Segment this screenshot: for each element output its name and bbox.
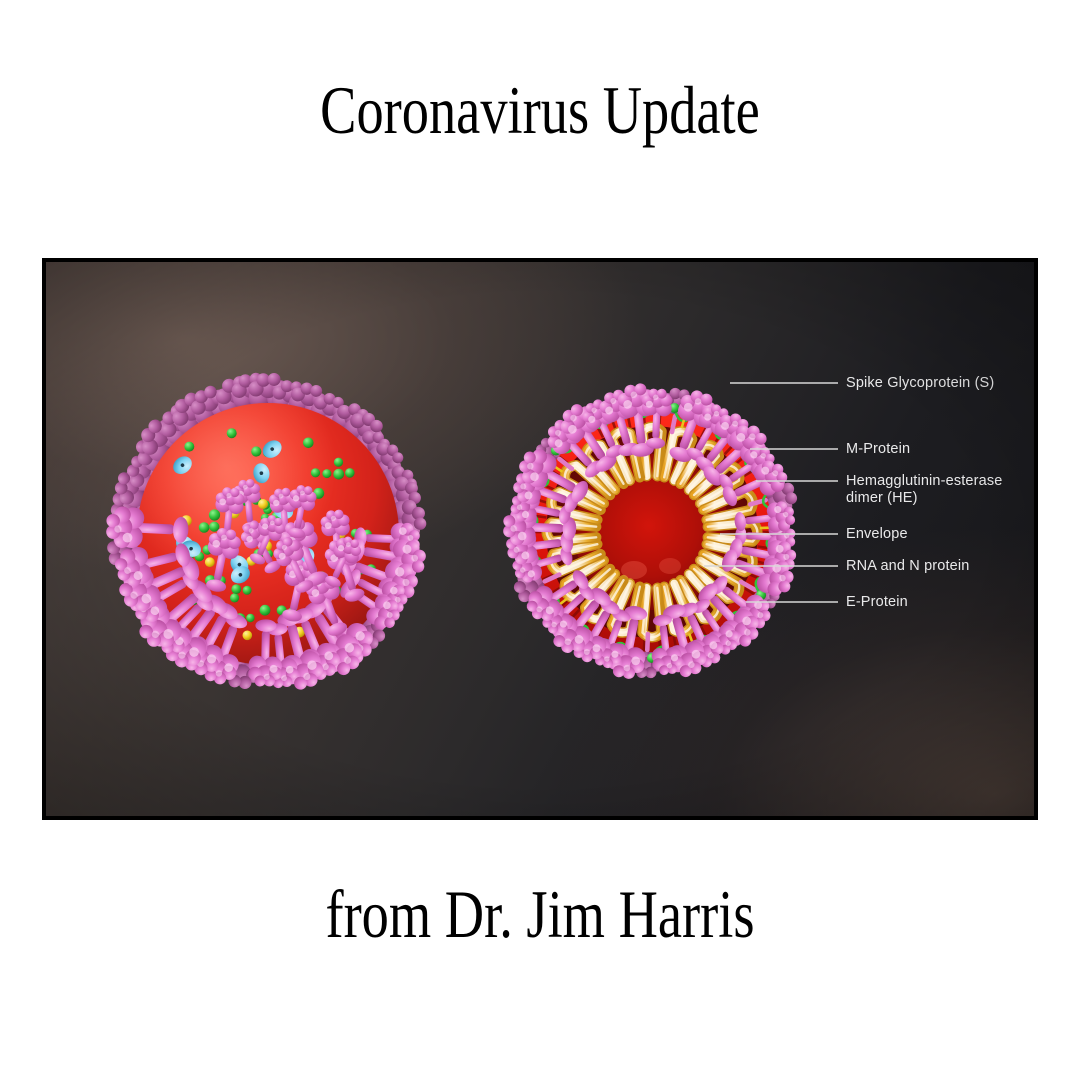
- m-protein: [345, 468, 355, 478]
- slide-root: Coronavirus Update: [0, 0, 1080, 1080]
- m-protein: [334, 458, 343, 467]
- e-protein: [243, 631, 253, 641]
- cross-section-virion: [502, 382, 800, 682]
- m-protein: [231, 584, 241, 594]
- m-protein: [243, 586, 252, 595]
- coronavirus-figure-panel: Spike Glycoprotein (S)M-ProteinHemagglut…: [42, 258, 1038, 820]
- intact-virion: [105, 371, 428, 693]
- e-protein: [258, 499, 268, 509]
- m-protein: [184, 442, 194, 452]
- page-title: Coronavirus Update: [108, 74, 972, 146]
- m-protein: [303, 438, 314, 449]
- m-protein: [251, 446, 261, 456]
- m-protein: [199, 522, 210, 533]
- m-protein: [230, 593, 239, 602]
- m-protein: [260, 605, 271, 616]
- m-protein: [209, 509, 220, 520]
- callout-label-5: E-Protein: [846, 594, 908, 611]
- m-protein: [246, 614, 254, 622]
- callout-label-3: Envelope: [846, 526, 908, 543]
- callout-label-1: M-Protein: [846, 441, 910, 458]
- m-protein: [333, 469, 344, 480]
- callout-label-2: Hemagglutinin-esterase dimer (HE): [846, 473, 1002, 507]
- m-protein: [209, 522, 219, 532]
- m-protein: [227, 428, 237, 438]
- page-footer: from Dr. Jim Harris: [108, 878, 972, 950]
- e-protein: [205, 557, 215, 567]
- m-protein: [311, 468, 320, 477]
- callout-label-0: Spike Glycoprotein (S): [846, 375, 994, 392]
- m-protein: [322, 469, 331, 478]
- callout-label-4: RNA and N protein: [846, 558, 969, 575]
